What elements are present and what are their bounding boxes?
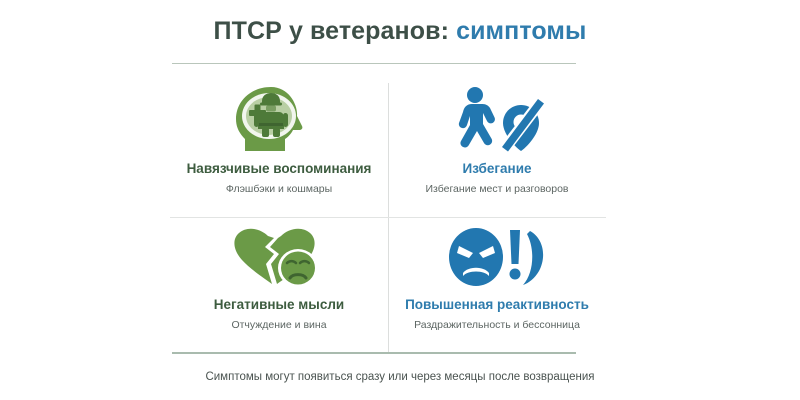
- footer-note: Симптомы могут появиться сразу или через…: [0, 370, 800, 385]
- page-title: ПТСР у ветеранов: симптомы: [0, 16, 800, 46]
- quadrant-subtitle: Флэшбэки и кошмары: [226, 183, 332, 196]
- head-brain-soldier-icon: [227, 83, 331, 155]
- quadrant-negative-thoughts[interactable]: Негативные мысли Отчуждение и вина: [170, 217, 388, 353]
- quadrant-hyperarousal[interactable]: Повышенная реактивность Раздражительност…: [388, 217, 606, 353]
- title-accent: симптомы: [456, 17, 586, 45]
- infographic-root: ПТСР у ветеранов: симптомы: [0, 0, 800, 400]
- quadrant-subtitle: Избегание мест и разговоров: [425, 183, 568, 196]
- quadrant-title: Избегание: [462, 161, 531, 177]
- symptom-grid: Навязчивые воспоминания Флэшбэки и кошма…: [170, 80, 606, 352]
- footer-divider: [172, 352, 576, 354]
- quadrant-avoidance[interactable]: Избегание Избегание мест и разговоров: [388, 80, 606, 216]
- angry-face-exclamation-moon-icon: [442, 223, 552, 291]
- quadrant-title: Негативные мысли: [214, 297, 344, 313]
- quadrant-subtitle: Отчуждение и вина: [231, 319, 326, 332]
- quadrant-title: Повышенная реактивность: [405, 297, 589, 313]
- title-divider: [172, 63, 576, 64]
- quadrant-intrusive-memories[interactable]: Навязчивые воспоминания Флэшбэки и кошма…: [170, 80, 388, 216]
- title-main: ПТСР у ветеранов:: [214, 17, 449, 45]
- broken-heart-sad-face-icon: [224, 223, 334, 291]
- quadrant-subtitle: Раздражительность и бессонница: [414, 319, 580, 332]
- walking-person-no-place-icon: [445, 83, 549, 155]
- title-text: ПТСР у ветеранов: симптомы: [0, 16, 800, 46]
- quadrant-title: Навязчивые воспоминания: [187, 161, 372, 177]
